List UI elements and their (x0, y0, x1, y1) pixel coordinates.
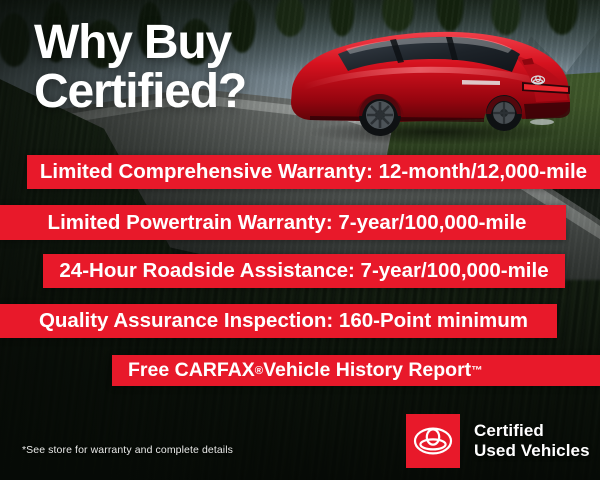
certified-used-vehicles-lockup: Certified Used Vehicles (406, 414, 590, 468)
benefit-banner-label: Quality Assurance Inspection: 160-Point … (39, 309, 528, 333)
benefit-banner-label: Limited Comprehensive Warranty: 12-month… (40, 160, 587, 184)
benefit-banner-powertrain-warranty: Limited Powertrain Warranty: 7-year/100,… (0, 205, 566, 240)
benefit-banner-label: Limited Powertrain Warranty: 7-year/100,… (48, 211, 527, 235)
brand-lockup-line-1: Certified (474, 421, 590, 441)
headline-line-1: Why Buy (34, 16, 231, 69)
carfax-middle: Vehicle History Report (263, 359, 471, 382)
benefit-banner-roadside-assistance: 24-Hour Roadside Assistance: 7-year/100,… (43, 254, 565, 288)
toyota-emblem-icon (406, 414, 460, 468)
page-title: Why Buy Certified? (34, 18, 246, 117)
certified-used-vehicles-ad: Why Buy Certified? Limited Comprehensive… (0, 0, 600, 480)
brand-lockup-line-2: Used Vehicles (474, 441, 590, 461)
headline-line-2: Certified? (34, 67, 246, 116)
benefit-banner-carfax-report: Free CARFAX® Vehicle History Report™ (112, 355, 600, 386)
brand-lockup-text: Certified Used Vehicles (474, 421, 590, 461)
benefit-banner-label: 24-Hour Roadside Assistance: 7-year/100,… (59, 259, 548, 283)
carfax-prefix: Free CARFAX (128, 359, 255, 382)
disclaimer-text: *See store for warranty and complete det… (22, 444, 233, 456)
benefit-banner-quality-inspection: Quality Assurance Inspection: 160-Point … (0, 304, 557, 338)
benefit-banner-comprehensive-warranty: Limited Comprehensive Warranty: 12-month… (27, 155, 600, 189)
red-sedan-car (286, 16, 586, 144)
